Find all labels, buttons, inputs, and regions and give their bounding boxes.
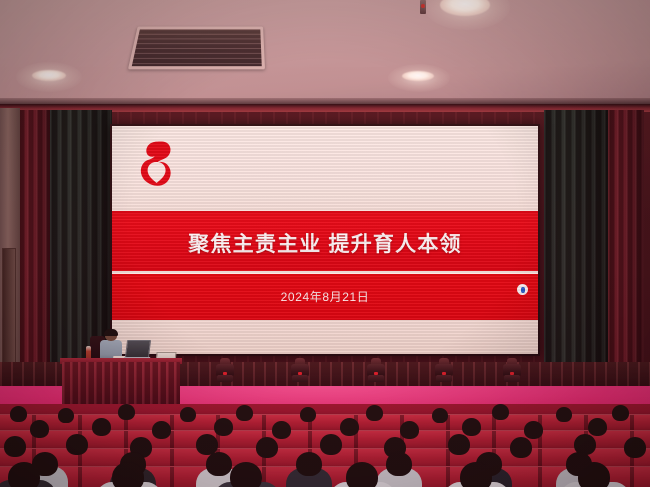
audience-head bbox=[272, 421, 291, 439]
audience-head bbox=[66, 434, 88, 455]
audience-head bbox=[206, 452, 232, 476]
ceiling-downlight-1 bbox=[32, 70, 66, 81]
slide-title: 聚焦主责主业 提升育人本领 bbox=[112, 214, 538, 271]
audience-head bbox=[386, 452, 412, 476]
audience-head bbox=[612, 405, 629, 421]
stage-curtain-right-outer bbox=[608, 110, 644, 390]
ceiling-downlight-3 bbox=[440, 0, 490, 16]
audience-head bbox=[366, 405, 383, 421]
audience-head bbox=[180, 407, 196, 422]
stage-curtain-right-inner bbox=[544, 110, 610, 393]
moving-head-light-2 bbox=[291, 358, 309, 382]
audience-head bbox=[556, 407, 572, 422]
side-door-frame bbox=[0, 108, 20, 390]
audience-head bbox=[462, 418, 481, 436]
presenter-table-skirt bbox=[62, 362, 180, 408]
audience-head bbox=[588, 418, 607, 436]
audience-head bbox=[92, 418, 111, 436]
audience-head bbox=[578, 462, 610, 487]
audience-head bbox=[340, 418, 359, 436]
audience-head bbox=[10, 406, 27, 422]
audience-head bbox=[30, 420, 49, 438]
audience-head bbox=[510, 437, 532, 458]
auditorium-photo: 聚焦主责主业 提升育人本领 2024年8月21日 bbox=[0, 0, 650, 487]
ceiling-air-vent bbox=[128, 27, 265, 70]
moving-head-light-5 bbox=[503, 358, 521, 382]
moving-head-light-3 bbox=[367, 358, 385, 382]
slide-bottom-band bbox=[112, 320, 538, 354]
audience-head bbox=[300, 407, 316, 422]
audience-head bbox=[236, 405, 253, 421]
audience-head bbox=[296, 452, 322, 476]
red-heart-emblem-logo bbox=[126, 138, 186, 198]
audience-head bbox=[230, 462, 262, 487]
moving-head-light-4 bbox=[435, 358, 453, 382]
ceiling-downlight-2 bbox=[402, 71, 434, 81]
audience-head bbox=[400, 421, 419, 439]
audience-head bbox=[112, 462, 144, 487]
audience-head bbox=[4, 436, 26, 457]
audience-head bbox=[152, 421, 171, 439]
screen-corner-badge bbox=[517, 284, 528, 295]
speaker-hair bbox=[104, 329, 118, 336]
ceiling bbox=[0, 0, 650, 107]
audience-head bbox=[214, 418, 233, 436]
audience-head bbox=[118, 404, 135, 420]
audience-head bbox=[492, 404, 509, 420]
fire-sprinkler-head bbox=[420, 0, 426, 14]
led-screen-bezel: 聚焦主责主业 提升育人本领 2024年8月21日 bbox=[110, 124, 540, 356]
vent-slats bbox=[132, 29, 262, 66]
audience-area bbox=[0, 404, 650, 487]
stage-curtain-left-outer bbox=[18, 110, 52, 390]
audience-head bbox=[346, 462, 378, 487]
laptop-screen bbox=[125, 340, 151, 358]
moving-head-light-1 bbox=[216, 358, 234, 382]
audience-head bbox=[624, 437, 646, 458]
audience-head bbox=[58, 408, 74, 423]
audience-head bbox=[448, 434, 470, 455]
led-screen: 聚焦主责主业 提升育人本领 2024年8月21日 bbox=[112, 126, 538, 354]
audience-head bbox=[8, 462, 40, 487]
audience-head bbox=[320, 434, 342, 455]
audience-head bbox=[256, 437, 278, 458]
slide-date: 2024年8月21日 bbox=[112, 276, 538, 316]
audience-head bbox=[524, 421, 543, 439]
audience-head bbox=[460, 462, 492, 487]
audience-head bbox=[432, 408, 448, 423]
